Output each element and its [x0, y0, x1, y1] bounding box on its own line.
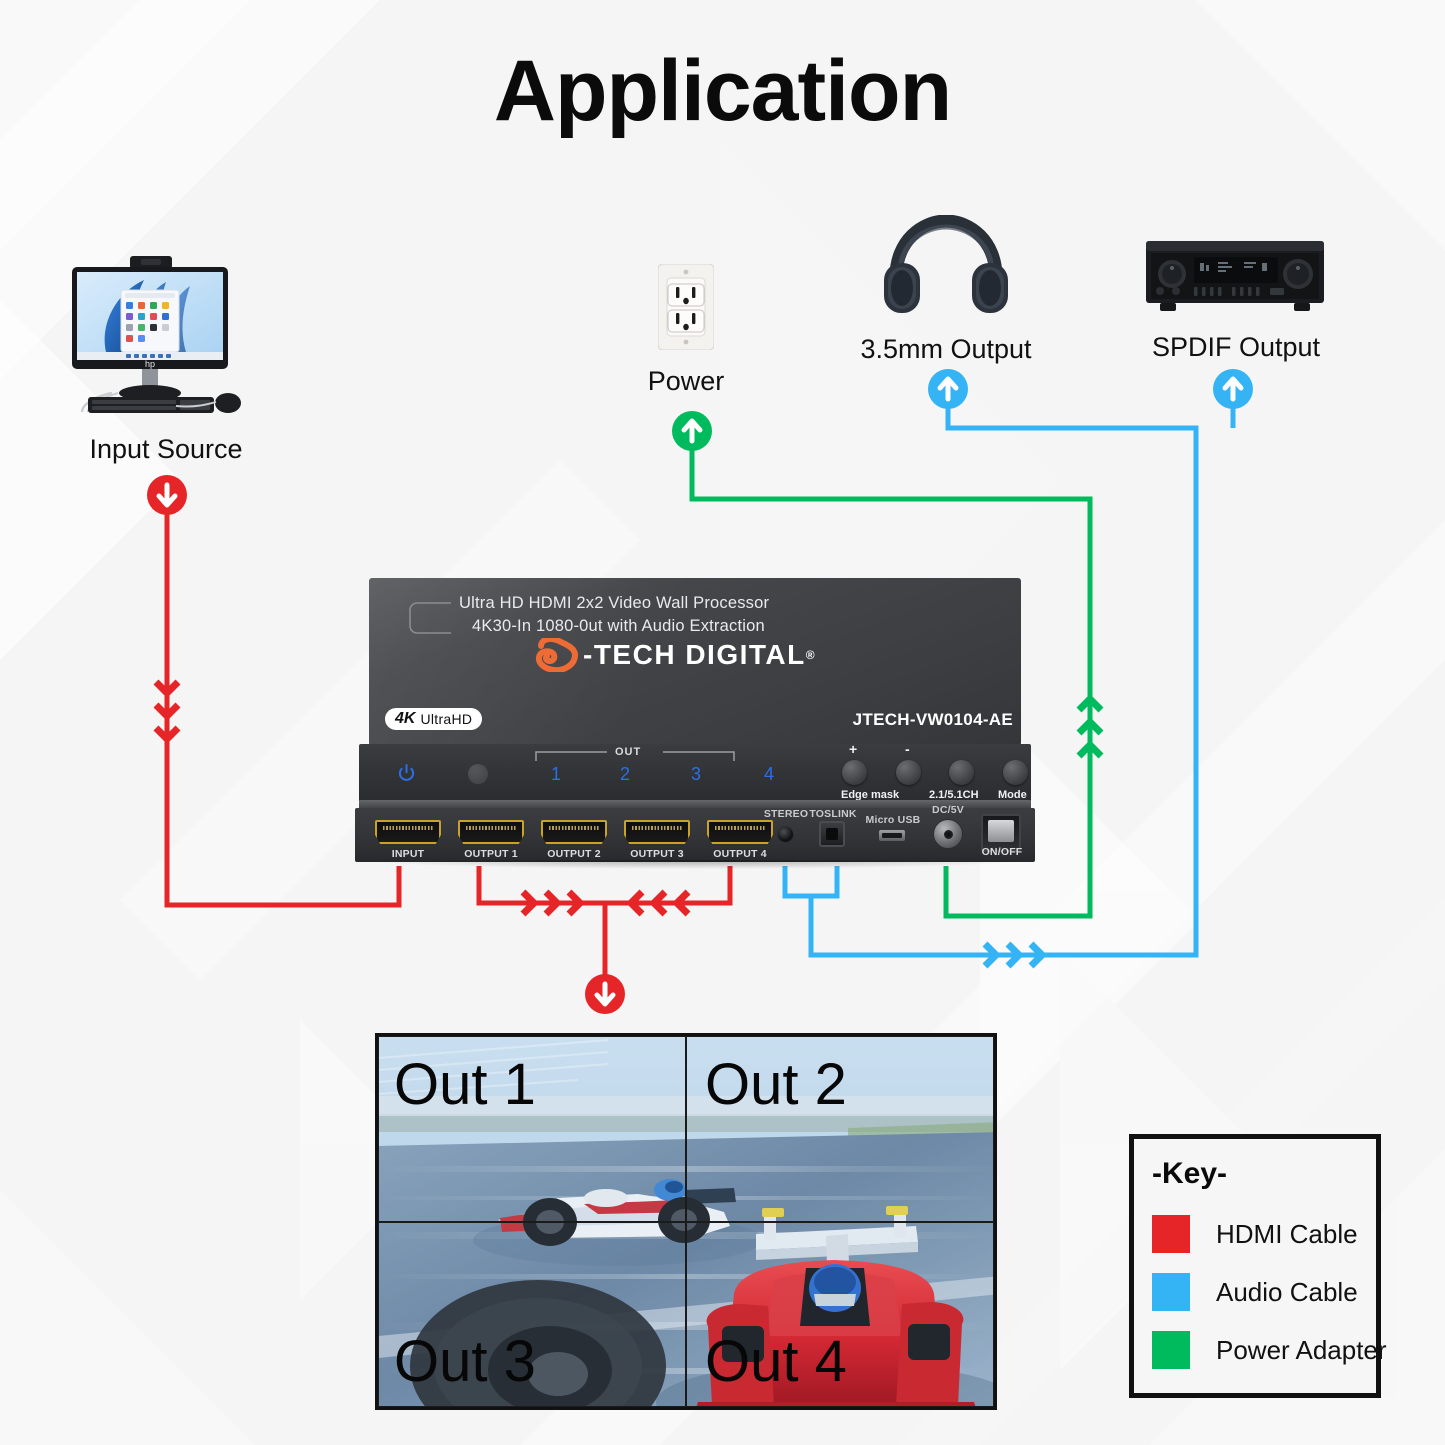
spdif-output-label: SPDIF Output — [1130, 332, 1342, 363]
power-button-icon[interactable] — [397, 764, 416, 783]
ir-sensor-icon — [468, 764, 488, 784]
desktop-computer-icon: hp — [66, 256, 266, 421]
out-indicator-1[interactable]: 1 — [551, 764, 561, 785]
brand-registered-mark: ® — [806, 648, 816, 662]
out-group-label: OUT — [615, 746, 641, 758]
legend-row-audio: Audio Cable — [1152, 1273, 1358, 1311]
channel-mode-knob[interactable] — [949, 760, 974, 785]
legend-label-audio: Audio Cable — [1216, 1277, 1358, 1308]
video-wall-display: Out 1 Out 2 Out 3 Out 4 — [375, 1033, 997, 1410]
out-indicator-3[interactable]: 3 — [691, 764, 701, 785]
hdmi-port-output-2[interactable] — [541, 820, 607, 844]
micro-usb-port[interactable] — [879, 830, 905, 841]
video-wall-label-out1: Out 1 — [394, 1056, 536, 1114]
out-indicator-4[interactable]: 4 — [764, 764, 774, 785]
badge-4k-text: 4K — [395, 710, 415, 728]
jtech-j-mark-icon — [535, 638, 579, 672]
hdmi-port-output-4[interactable] — [707, 820, 773, 844]
headphones-icon — [882, 215, 1010, 325]
legend-swatch-power — [1152, 1331, 1190, 1369]
video-wall-label-out4: Out 4 — [705, 1333, 847, 1391]
hdmi-port-output-3-label: OUTPUT 3 — [617, 848, 697, 860]
edge-mask-minus-sign: - — [905, 741, 910, 757]
device-shadow — [365, 860, 1025, 869]
edge-mask-plus-knob[interactable] — [842, 760, 867, 785]
legend-row-hdmi: HDMI Cable — [1152, 1215, 1358, 1253]
stereo-output-label: 3.5mm Output — [826, 334, 1066, 365]
legend-swatch-hdmi — [1152, 1215, 1190, 1253]
hdmi-port-input-label: INPUT — [375, 848, 441, 860]
legend-title: -Key- — [1152, 1157, 1227, 1191]
hdmi-port-output-1-label: OUTPUT 1 — [451, 848, 531, 860]
legend-swatch-audio — [1152, 1273, 1190, 1311]
video-wall-processor-device: Ultra HD HDMI 2x2 Video Wall Processor 4… — [355, 578, 1035, 868]
power-switch-label: ON/OFF — [967, 846, 1037, 858]
legend-row-power: Power Adapter — [1152, 1331, 1387, 1369]
legend-label-power: Power Adapter — [1216, 1335, 1387, 1366]
hdmi-port-output-3[interactable] — [624, 820, 690, 844]
svg-text:hp: hp — [145, 359, 155, 369]
video-wall-label-out3: Out 3 — [394, 1333, 536, 1391]
out-indicator-2[interactable]: 2 — [620, 764, 630, 785]
hdmi-port-output-2-label: OUTPUT 2 — [534, 848, 614, 860]
brand-logo: -TECH DIGITAL ® — [535, 638, 816, 672]
edge-mask-minus-knob[interactable] — [896, 760, 921, 785]
legend-key-box: -Key- HDMI Cable Audio Cable Power Adapt… — [1129, 1134, 1381, 1398]
power-label: Power — [586, 366, 786, 397]
badge-ultrahd-text: UltraHD — [420, 711, 472, 727]
hdmi-port-output-4-label: OUTPUT 4 — [700, 848, 780, 860]
av-receiver-icon — [1146, 237, 1324, 319]
application-diagram: Application — [0, 0, 1445, 1445]
hdmi-port-input[interactable] — [375, 820, 441, 844]
wall-outlet-icon — [658, 264, 714, 350]
stereo-jack-port[interactable] — [777, 826, 794, 843]
device-model-number: JTECH-VW0104-AE — [853, 710, 1013, 730]
device-line1: Ultra HD HDMI 2x2 Video Wall Processor — [459, 594, 769, 613]
4k-ultrahd-badge: 4K UltraHD — [385, 708, 482, 730]
device-bracket-icon — [407, 600, 453, 644]
device-line2: 4K30-In 1080-0ut with Audio Extraction — [472, 617, 765, 636]
legend-label-hdmi: HDMI Cable — [1216, 1219, 1358, 1250]
dc-power-jack[interactable] — [933, 819, 963, 849]
brand-text: -TECH DIGITAL — [583, 639, 806, 671]
edge-mask-plus-sign: + — [849, 741, 857, 757]
mode-knob[interactable] — [1003, 760, 1028, 785]
dc-power-label: DC/5V — [916, 804, 980, 816]
video-wall-label-out2: Out 2 — [705, 1056, 847, 1114]
input-source-label: Input Source — [46, 434, 286, 465]
toslink-port[interactable] — [819, 821, 845, 847]
hdmi-port-output-1[interactable] — [458, 820, 524, 844]
